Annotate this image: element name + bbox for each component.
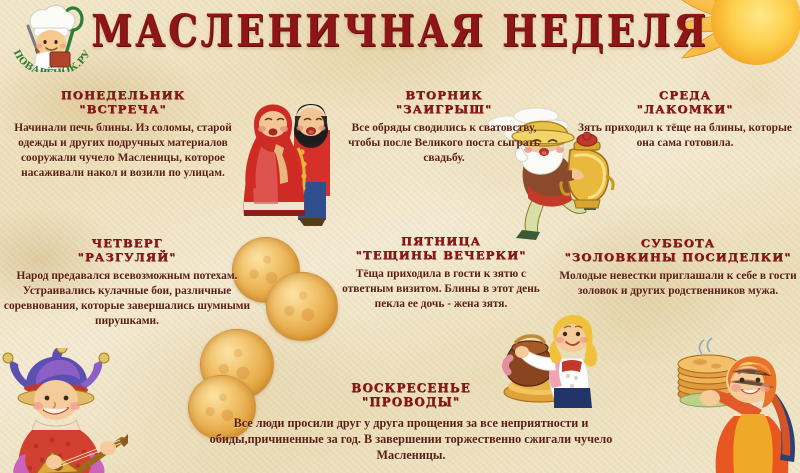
day-weekday-tuesday: ВТОРНИК <box>405 88 483 102</box>
day-weekday-sunday: ВОСКРЕСЕНЬЕ <box>351 381 471 395</box>
day-nickname-thursday: "РАЗГУЛЯЙ" <box>0 250 256 264</box>
day-nickname-tuesday: "ЗАИГРЫШ" <box>338 102 550 116</box>
day-block-monday: ПОНЕДЕЛЬНИК "ВСТРЕЧА" Начинали печь блин… <box>0 88 248 180</box>
jester-with-balalaika-icon <box>0 348 128 473</box>
day-block-friday: ПЯТНИЦА "ТЕЩИНЫ ВЕЧЕРКИ" Тёща приходила … <box>330 234 552 312</box>
day-block-tuesday: ВТОРНИК "ЗАИГРЫШ" Все обряды сводились к… <box>338 88 550 166</box>
day-title-sunday: ВОСКРЕСЕНЬЕ "ПРОВОДЫ" <box>176 381 646 410</box>
day-text-tuesday: Все обряды сводились к сватовству, чтобы… <box>338 121 550 165</box>
maslenitsa-poster: ПОВАРЁНОК.РУ МАСЛЕНИЧНАЯ НЕДЕЛЯ <box>0 0 800 473</box>
day-block-thursday: ЧЕТВЕРГ "РАЗГУЛЯЙ" Народ предавался всев… <box>0 236 256 328</box>
day-title-friday: ПЯТНИЦА "ТЕЩИНЫ ВЕЧЕРКИ" <box>330 234 552 262</box>
day-block-sunday: ВОСКРЕСЕНЬЕ "ПРОВОДЫ" Все люди просили д… <box>176 381 646 464</box>
day-nickname-sunday: "ПРОВОДЫ" <box>176 395 646 409</box>
povarenok-logo[interactable]: ПОВАРЁНОК.РУ <box>6 2 98 72</box>
day-weekday-wednesday: СРЕДА <box>659 88 711 102</box>
woman-with-pancakes-icon <box>676 336 800 473</box>
day-title-thursday: ЧЕТВЕРГ "РАЗГУЛЯЙ" <box>0 236 256 264</box>
day-title-wednesday: СРЕДА "ЛАКОМКИ" <box>576 88 794 116</box>
day-weekday-saturday: СУББОТА <box>641 236 715 250</box>
day-text-sunday: Все люди просили друг у друга прощения з… <box>176 415 646 464</box>
pancake-icon <box>266 272 338 341</box>
day-block-saturday: СУББОТА "ЗОЛОВКИНЫ ПОСИДЕЛКИ" Молодые не… <box>558 236 798 299</box>
page-title: МАСЛЕНИЧНАЯ НЕДЕЛЯ <box>0 5 800 57</box>
day-text-monday: Начинали печь блины. Из соломы, старой о… <box>0 121 248 180</box>
day-text-friday: Тёща приходила в гости к зятю с ответным… <box>330 267 552 311</box>
day-title-monday: ПОНЕДЕЛЬНИК "ВСТРЕЧА" <box>0 88 248 116</box>
day-nickname-monday: "ВСТРЕЧА" <box>0 102 248 116</box>
day-weekday-monday: ПОНЕДЕЛЬНИК <box>61 88 186 102</box>
day-text-thursday: Народ предавался всевозможным потехам. У… <box>0 269 256 328</box>
two-singing-women-icon <box>232 78 354 228</box>
day-text-wednesday: Зять приходил к тёще на блины, которые о… <box>576 121 794 151</box>
day-title-tuesday: ВТОРНИК "ЗАИГРЫШ" <box>338 88 550 116</box>
day-nickname-wednesday: "ЛАКОМКИ" <box>576 102 794 116</box>
day-weekday-thursday: ЧЕТВЕРГ <box>91 236 162 250</box>
day-nickname-friday: "ТЕЩИНЫ ВЕЧЕРКИ" <box>330 248 552 262</box>
day-nickname-saturday: "ЗОЛОВКИНЫ ПОСИДЕЛКИ" <box>558 250 798 264</box>
day-block-wednesday: СРЕДА "ЛАКОМКИ" Зять приходил к тёще на … <box>576 88 794 151</box>
day-weekday-friday: ПЯТНИЦА <box>401 234 481 248</box>
day-text-saturday: Молодые невестки приглашали к себе в гос… <box>558 269 798 299</box>
day-title-saturday: СУББОТА "ЗОЛОВКИНЫ ПОСИДЕЛКИ" <box>558 236 798 264</box>
